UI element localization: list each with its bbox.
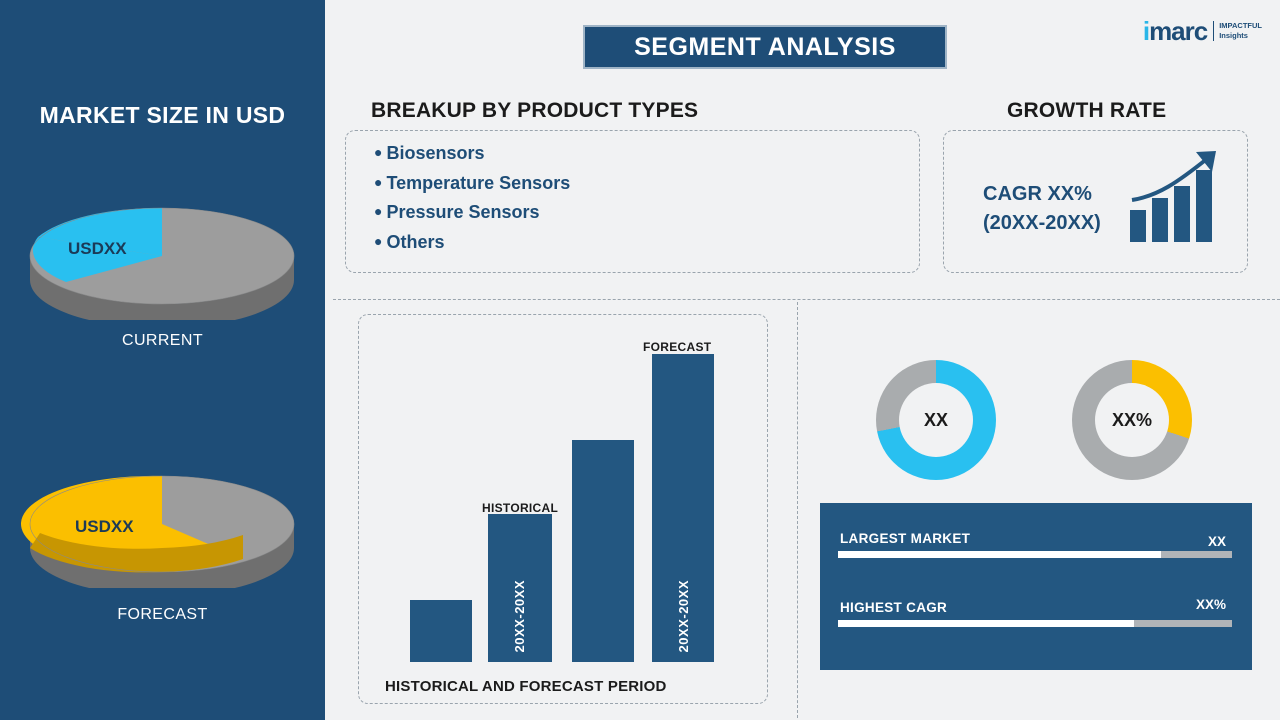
bar-chart-xlabel: HISTORICAL AND FORECAST PERIOD (385, 678, 667, 695)
donut-left-chart: XX (876, 360, 996, 480)
logo-tagline-2: Insights (1219, 31, 1262, 41)
bullet-dot-icon: ● (374, 233, 382, 249)
stats-card: LARGEST MARKET XX HIGHEST CAGR XX% (820, 503, 1252, 670)
stat-label-largest-market: LARGEST MARKET (840, 531, 970, 546)
logo-tagline-1: IMPACTFUL (1219, 21, 1262, 31)
breakup-title: BREAKUP BY PRODUCT TYPES (371, 99, 698, 123)
forecast-annotation: FORECAST (643, 340, 711, 354)
vertical-divider (797, 302, 798, 718)
list-item: ●Others (374, 227, 570, 257)
breakup-item-label: Biosensors (386, 143, 484, 163)
forecast-pie-chart (0, 428, 325, 588)
infographic-root: MARKET SIZE IN USD USDXX CURRENT (0, 0, 1280, 720)
stat-track-highest-cagr (838, 620, 1232, 627)
breakup-item-label: Others (386, 232, 444, 252)
donut-right-chart: XX% (1072, 360, 1192, 480)
cagr-line-1: CAGR XX% (983, 180, 1101, 209)
historical-annotation: HISTORICAL (482, 501, 558, 515)
donut-left-center-label: XX (899, 383, 973, 457)
stat-label-highest-cagr: HIGHEST CAGR (840, 600, 947, 615)
horizontal-divider (333, 299, 1280, 300)
breakup-item-label: Pressure Sensors (386, 202, 539, 222)
header-title: SEGMENT ANALYSIS (634, 33, 896, 62)
left-panel: MARKET SIZE IN USD USDXX CURRENT (0, 0, 325, 720)
left-panel-title: MARKET SIZE IN USD (0, 102, 325, 129)
bar-3 (572, 440, 634, 662)
list-item: ●Temperature Sensors (374, 168, 570, 198)
forecast-pie-block: USDXX FORECAST (0, 428, 325, 624)
stat-track-largest-market (838, 551, 1232, 558)
imarc-logo: iimarcmarc IMPACTFUL Insights (1143, 14, 1262, 48)
list-item: ●Biosensors (374, 138, 570, 168)
segment-analysis-header: SEGMENT ANALYSIS (583, 25, 947, 69)
logo-wordmark: iimarcmarc (1143, 16, 1207, 47)
bar-chart: 20XX-20XX 20XX-20XX (400, 340, 730, 662)
current-pie-block: USDXX CURRENT (0, 160, 325, 350)
growth-rate-title: GROWTH RATE (1007, 99, 1166, 123)
breakup-item-label: Temperature Sensors (386, 173, 570, 193)
bullet-dot-icon: ● (374, 144, 382, 160)
stat-fill-largest-market (838, 551, 1161, 558)
bullet-dot-icon: ● (374, 203, 382, 219)
stat-fill-highest-cagr (838, 620, 1134, 627)
stat-value-largest-market: XX (1208, 534, 1226, 549)
stat-value-highest-cagr: XX% (1196, 597, 1226, 612)
bar-4-label: 20XX-20XX (676, 580, 691, 652)
bullet-dot-icon: ● (374, 174, 382, 190)
bar-1 (410, 600, 472, 662)
list-item: ●Pressure Sensors (374, 197, 570, 227)
current-pie-chart (0, 160, 325, 320)
bar-2-label: 20XX-20XX (512, 580, 527, 652)
donut-right-center-label: XX% (1095, 383, 1169, 457)
breakup-list: ●Biosensors ●Temperature Sensors ●Pressu… (374, 138, 570, 256)
current-pie-caption: CURRENT (0, 332, 325, 350)
cagr-text: CAGR XX% (20XX-20XX) (983, 180, 1101, 238)
growth-bar-arrow-icon (1126, 148, 1231, 248)
cagr-line-2: (20XX-20XX) (983, 209, 1101, 238)
forecast-pie-caption: FORECAST (0, 606, 325, 624)
